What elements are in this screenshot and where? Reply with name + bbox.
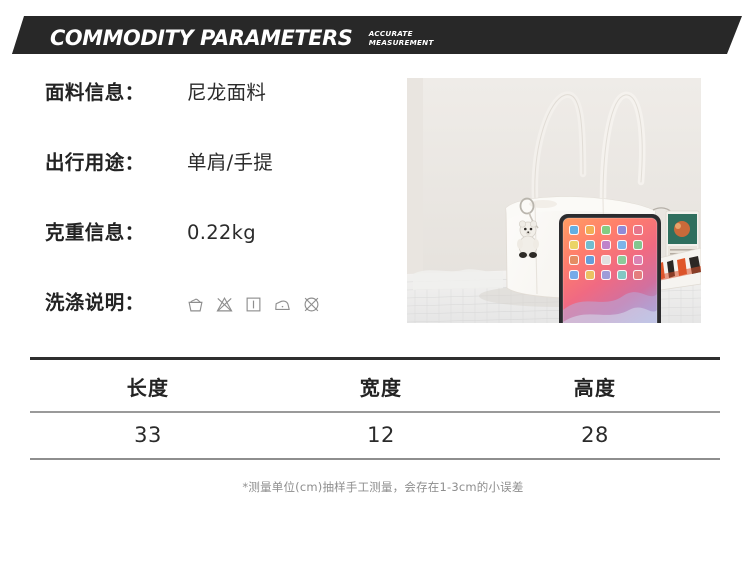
spec-label-usage: 出行用途： xyxy=(45,150,145,176)
spec-value-usage: 单肩/手提 xyxy=(187,150,273,176)
table-value-height: 28 xyxy=(480,413,710,458)
specifications-list: 面料信息： 尼龙面料 出行用途： 单肩/手提 克重信息： 0.22kg 洗涤说明… xyxy=(45,80,390,360)
table-header-height: 高度 xyxy=(480,360,710,411)
spec-row-weight: 克重信息： 0.22kg xyxy=(45,220,390,290)
spec-label-care: 洗涤说明： xyxy=(45,290,145,316)
measurement-footnote: *测量单位(cm)抽样手工测量，会存在1-3cm的小误差 xyxy=(8,479,750,495)
table-header-length: 长度 xyxy=(33,360,263,411)
tablet-device xyxy=(559,214,661,323)
product-parameters-page: COMMODITY PARAMETERS ACCURATE MEASUREMEN… xyxy=(0,0,750,567)
table-value-width: 12 xyxy=(266,413,496,458)
spec-row-care: 洗涤说明： xyxy=(45,290,390,360)
do-not-dry-clean-icon xyxy=(303,296,320,313)
spec-row-fabric: 面料信息： 尼龙面料 xyxy=(45,80,390,150)
table-header-row: 长度 宽度 高度 xyxy=(30,360,720,411)
spec-label-weight: 克重信息： xyxy=(45,220,145,246)
do-not-bleach-icon xyxy=(216,296,233,313)
table-value-length: 33 xyxy=(33,413,263,458)
spec-value-weight: 0.22kg xyxy=(187,220,256,246)
spec-label-fabric: 面料信息： xyxy=(45,80,145,106)
care-symbols-group xyxy=(187,292,320,316)
banner-text-group: COMMODITY PARAMETERS ACCURATE MEASUREMEN… xyxy=(50,21,434,49)
table-header-width: 宽度 xyxy=(266,360,496,411)
table-value-row: 33 12 28 xyxy=(30,413,720,458)
iron-low-heat-icon xyxy=(274,296,291,313)
spec-value-fabric: 尼龙面料 xyxy=(187,80,266,106)
wash-tub-icon xyxy=(187,296,204,313)
spec-row-usage: 出行用途： 单肩/手提 xyxy=(45,150,390,220)
product-photo-illustration xyxy=(407,78,701,323)
table-rule-bottom xyxy=(30,458,720,460)
drip-dry-icon xyxy=(245,296,262,313)
banner-title: COMMODITY PARAMETERS xyxy=(50,28,352,50)
dimensions-table: 长度 宽度 高度 33 12 28 xyxy=(30,357,720,460)
product-photo xyxy=(407,78,701,323)
banner-subtitle: ACCURATE MEASUREMENT xyxy=(369,30,434,49)
commodity-parameters-banner: COMMODITY PARAMETERS ACCURATE MEASUREMEN… xyxy=(0,14,750,56)
banner-subtitle-line2: MEASUREMENT xyxy=(369,38,434,47)
